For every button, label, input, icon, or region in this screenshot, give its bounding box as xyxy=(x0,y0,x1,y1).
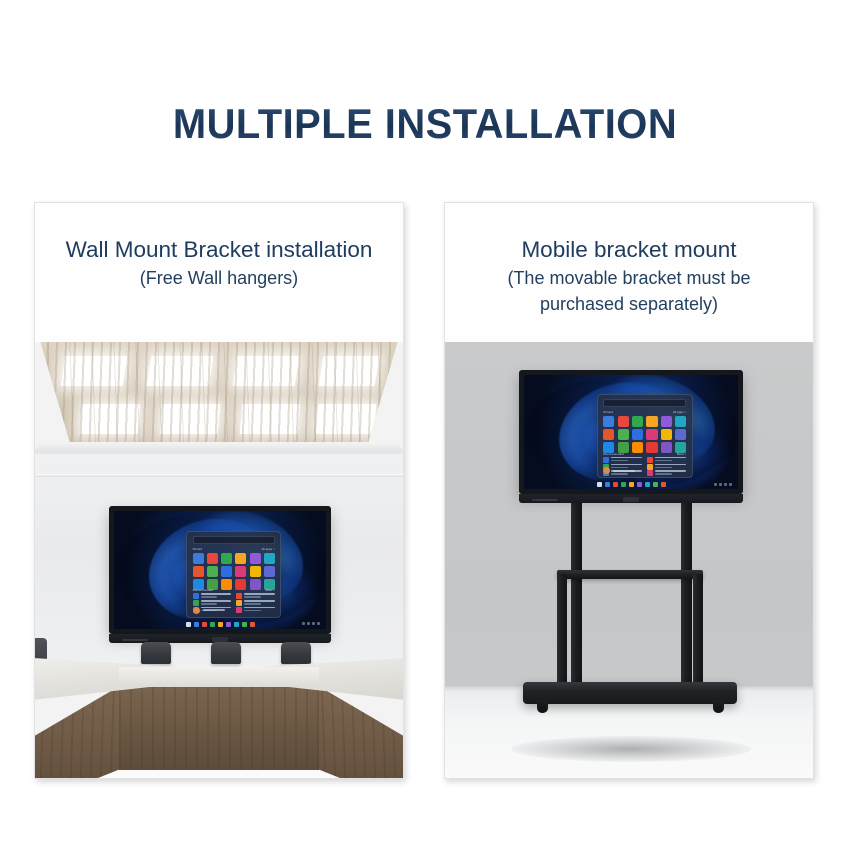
pinned-app-icon[interactable] xyxy=(603,416,614,427)
taskbar[interactable] xyxy=(524,482,738,487)
pinned-app-icon[interactable] xyxy=(618,416,629,427)
pinned-app-icon[interactable] xyxy=(264,553,275,564)
stand-base-plate xyxy=(523,682,737,704)
pinned-app-icon[interactable] xyxy=(207,553,218,564)
start-menu-recommended-header: Recommended More > xyxy=(603,452,686,456)
pinned-app-icon[interactable] xyxy=(264,566,275,577)
taskbar-icon[interactable] xyxy=(218,622,223,627)
stand-post-right xyxy=(681,488,692,692)
taskbar-icon[interactable] xyxy=(605,482,610,487)
recommended-item-label xyxy=(201,600,232,606)
recommended-item[interactable] xyxy=(647,470,686,476)
taskbar-icon[interactable] xyxy=(250,622,255,627)
taskbar-icon[interactable] xyxy=(226,622,231,627)
avatar xyxy=(603,467,610,474)
start-menu-pinned-header: Pinned All apps > xyxy=(603,410,686,414)
wood-slat-ceiling xyxy=(35,342,403,446)
taskbar-icon[interactable] xyxy=(653,482,658,487)
wall-trim-line xyxy=(35,474,403,477)
stand-post-left xyxy=(571,488,582,692)
recommended-file-icon xyxy=(193,593,199,599)
photo-wall-mount-installation: Pinned All apps > Recommended More > xyxy=(35,342,403,778)
pinned-app-icon[interactable] xyxy=(235,566,246,577)
recommended-item-label xyxy=(655,457,686,463)
stand-caster-wheel[interactable] xyxy=(537,700,548,713)
recommended-file-icon xyxy=(647,457,653,463)
recommended-item-label xyxy=(201,593,232,599)
pinned-label: Pinned xyxy=(603,410,612,414)
pinned-app-icon[interactable] xyxy=(207,566,218,577)
taskbar-icon[interactable] xyxy=(597,482,602,487)
start-menu[interactable]: Pinned All apps > Recommended More > xyxy=(597,394,693,478)
pinned-app-icon[interactable] xyxy=(675,416,686,427)
start-menu-search-input[interactable] xyxy=(603,399,686,407)
taskbar-icon[interactable] xyxy=(629,482,634,487)
taskbar-icon[interactable] xyxy=(621,482,626,487)
taskbar-icon[interactable] xyxy=(210,622,215,627)
taskbar-icon[interactable] xyxy=(194,622,199,627)
recommended-file-icon xyxy=(193,600,199,606)
panel-mobile-bracket: Mobile bracket mount (The movable bracke… xyxy=(444,202,814,779)
ceiling-light-panel xyxy=(233,356,300,386)
pinned-app-icon[interactable] xyxy=(250,553,261,564)
recommended-label: Recommended xyxy=(603,452,623,456)
recommended-file-icon xyxy=(647,470,653,476)
pinned-app-icon[interactable] xyxy=(235,553,246,564)
ceiling-light-row-1 xyxy=(35,356,403,390)
pinned-app-icon[interactable] xyxy=(661,416,672,427)
recommended-item[interactable] xyxy=(236,607,275,613)
caption-title-mobile-bracket: Mobile bracket mount xyxy=(445,235,813,264)
recommended-file-icon xyxy=(236,607,242,613)
recommended-item[interactable] xyxy=(236,593,275,599)
recommended-label: Recommended xyxy=(193,588,213,592)
ceiling-light-panel xyxy=(80,404,141,434)
ceiling-light-panel xyxy=(147,356,214,386)
taskbar-icon[interactable] xyxy=(186,622,191,627)
recommended-file-icon xyxy=(603,457,609,463)
pinned-app-icon[interactable] xyxy=(632,429,643,440)
user-name xyxy=(613,470,635,472)
start-menu-pinned-header: Pinned All apps > xyxy=(193,547,275,551)
system-tray[interactable] xyxy=(714,483,732,486)
recommended-item-label xyxy=(244,600,275,606)
stand-mounted-display: Pinned All apps > Recommended More > xyxy=(519,370,743,494)
recommended-item[interactable] xyxy=(193,600,232,606)
taskbar-icon[interactable] xyxy=(645,482,650,487)
all-apps-button[interactable]: All apps > xyxy=(673,410,686,414)
pinned-label: Pinned xyxy=(193,547,202,551)
taskbar-icon[interactable] xyxy=(613,482,618,487)
more-button[interactable]: More > xyxy=(677,452,686,456)
wall-mounted-display: Pinned All apps > Recommended More > xyxy=(109,506,331,634)
ceiling-light-panel xyxy=(61,356,128,386)
display-port-label xyxy=(532,499,558,501)
recommended-item-label xyxy=(244,593,275,599)
recommended-item[interactable] xyxy=(603,457,642,463)
pinned-app-icon[interactable] xyxy=(193,553,204,564)
display-brand-logo xyxy=(623,497,639,502)
stand-caster-wheel[interactable] xyxy=(713,700,724,713)
more-button[interactable]: More > xyxy=(265,588,274,592)
taskbar-icon[interactable] xyxy=(637,482,642,487)
taskbar-icon[interactable] xyxy=(661,482,666,487)
caption-title-wall-mount: Wall Mount Bracket installation xyxy=(35,235,403,264)
pinned-app-icon[interactable] xyxy=(221,566,232,577)
taskbar-icon[interactable] xyxy=(202,622,207,627)
all-apps-button[interactable]: All apps > xyxy=(261,547,274,551)
pinned-apps-grid[interactable] xyxy=(603,416,686,449)
recommended-file-icon xyxy=(647,464,653,470)
start-menu-user[interactable] xyxy=(193,607,225,614)
taskbar-icon[interactable] xyxy=(242,622,247,627)
recommended-file-icon xyxy=(236,593,242,599)
recommended-item[interactable] xyxy=(236,600,275,606)
caption-wall-mount: Wall Mount Bracket installation (Free Wa… xyxy=(35,203,403,342)
display-screen-left: Pinned All apps > Recommended More > xyxy=(114,511,326,629)
table-top-center xyxy=(119,667,319,687)
pinned-app-icon[interactable] xyxy=(603,429,614,440)
user-name xyxy=(203,609,225,611)
caption-sub-mobile-bracket: (The movable bracket must be purchased s… xyxy=(445,265,813,317)
pinned-app-icon[interactable] xyxy=(661,429,672,440)
recommended-file-icon xyxy=(236,600,242,606)
pinned-app-icon[interactable] xyxy=(618,429,629,440)
pinned-app-icon[interactable] xyxy=(193,566,204,577)
pinned-apps-grid[interactable] xyxy=(193,553,275,586)
page-title: MULTIPLE INSTALLATION xyxy=(21,100,829,148)
panel-wall-mount: Wall Mount Bracket installation (Free Wa… xyxy=(34,202,404,779)
taskbar-icon[interactable] xyxy=(234,622,239,627)
system-tray[interactable] xyxy=(302,622,320,625)
pinned-app-icon[interactable] xyxy=(250,566,261,577)
pinned-app-icon[interactable] xyxy=(646,429,657,440)
pinned-app-icon[interactable] xyxy=(221,553,232,564)
stand-leg-right xyxy=(693,574,703,692)
display-screen-right: Pinned All apps > Recommended More > xyxy=(524,375,738,489)
ceiling-light-panel xyxy=(240,404,301,434)
table-panel-center xyxy=(119,686,319,770)
recommended-item-label xyxy=(244,607,275,613)
start-menu-search-input[interactable] xyxy=(193,536,275,544)
start-menu-user[interactable] xyxy=(603,467,635,474)
avatar xyxy=(193,607,200,614)
recommended-item[interactable] xyxy=(193,593,232,599)
ceiling-light-panel xyxy=(316,404,377,434)
recommended-item[interactable] xyxy=(647,457,686,463)
recommended-item-label xyxy=(611,457,642,463)
photo-mobile-bracket-installation: Pinned All apps > Recommended More > xyxy=(445,342,813,778)
pinned-app-icon[interactable] xyxy=(632,416,643,427)
caption-mobile-bracket: Mobile bracket mount (The movable bracke… xyxy=(445,203,813,342)
stand-shelf xyxy=(557,570,703,579)
start-menu-recommended-header: Recommended More > xyxy=(193,588,275,592)
recommended-item-label xyxy=(655,464,686,470)
start-menu[interactable]: Pinned All apps > Recommended More > xyxy=(186,531,281,618)
ceiling-light-row-2 xyxy=(35,404,403,438)
recommended-item-label xyxy=(655,470,686,476)
recommended-item[interactable] xyxy=(647,464,686,470)
ceiling-light-panel xyxy=(319,356,380,386)
caption-sub-wall-mount: (Free Wall hangers) xyxy=(35,265,403,291)
taskbar[interactable] xyxy=(114,622,326,627)
pinned-app-icon[interactable] xyxy=(646,416,657,427)
conference-table xyxy=(35,642,403,778)
stand-floor-shadow xyxy=(511,736,751,762)
pinned-app-icon[interactable] xyxy=(675,429,686,440)
display-port-label xyxy=(122,639,148,641)
stand-leg-left xyxy=(557,574,567,692)
ceiling-light-panel xyxy=(160,404,221,434)
